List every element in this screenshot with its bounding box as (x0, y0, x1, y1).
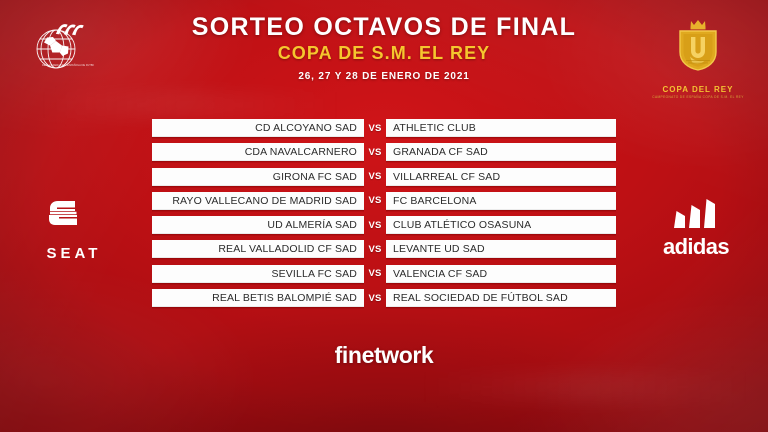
away-team: ATHLETIC CLUB (386, 119, 616, 137)
copa-del-rey-tagline: CAMPEONATO DE ESPAÑA COPA DE S.M. EL REY (650, 95, 746, 99)
away-team: FC BARCELONA (386, 192, 616, 210)
table-row: REAL BETIS BALOMPIÉ SAD VS REAL SOCIEDAD… (152, 289, 616, 307)
home-team: UD ALMERÍA SAD (152, 216, 364, 234)
vs-label: VS (364, 216, 386, 234)
home-team: REAL VALLADOLID CF SAD (152, 240, 364, 258)
table-row: UD ALMERÍA SAD VS CLUB ATLÉTICO OSASUNA (152, 216, 616, 234)
home-team: SEVILLA FC SAD (152, 265, 364, 283)
seat-logo: SEAT (30, 198, 114, 260)
home-team: RAYO VALLECANO DE MADRID SAD (152, 192, 364, 210)
competition-subtitle: COPA DE S.M. EL REY (0, 44, 768, 63)
away-team: LEVANTE UD SAD (386, 240, 616, 258)
away-team: REAL SOCIEDAD DE FÚTBOL SAD (386, 289, 616, 307)
vs-label: VS (364, 265, 386, 283)
table-row: CD ALCOYANO SAD VS ATHLETIC CLUB (152, 119, 616, 137)
away-team: CLUB ATLÉTICO OSASUNA (386, 216, 616, 234)
table-row: GIRONA FC SAD VS VILLARREAL CF SAD (152, 168, 616, 186)
sorteo-graphic: REAL FEDERACION ESPAÑOLA DE FUTBOL COPA … (0, 0, 768, 432)
table-row: RAYO VALLECANO DE MADRID SAD VS FC BARCE… (152, 192, 616, 210)
away-team: GRANADA CF SAD (386, 143, 616, 161)
vs-label: VS (364, 143, 386, 161)
table-row: CDA NAVALCARNERO VS GRANADA CF SAD (152, 143, 616, 161)
table-row: SEVILLA FC SAD VS VALENCIA CF SAD (152, 265, 616, 283)
table-row: REAL VALLADOLID CF SAD VS LEVANTE UD SAD (152, 240, 616, 258)
vs-label: VS (364, 168, 386, 186)
page-title: SORTEO OCTAVOS DE FINAL (0, 14, 768, 41)
vs-label: VS (364, 289, 386, 307)
home-team: CDA NAVALCARNERO (152, 143, 364, 161)
finetwork-logo: finetwork (0, 342, 768, 369)
vs-label: VS (364, 192, 386, 210)
match-list: CD ALCOYANO SAD VS ATHLETIC CLUB CDA NAV… (152, 119, 616, 313)
vs-label: VS (364, 240, 386, 258)
event-dates: 26, 27 Y 28 DE ENERO DE 2021 (0, 71, 768, 82)
away-team: VALENCIA CF SAD (386, 265, 616, 283)
home-team: GIRONA FC SAD (152, 168, 364, 186)
copa-del-rey-wordmark: COPA DEL REY (650, 85, 746, 94)
adidas-logo: adidas (650, 199, 742, 259)
away-team: VILLARREAL CF SAD (386, 168, 616, 186)
home-team: CD ALCOYANO SAD (152, 119, 364, 137)
vs-label: VS (364, 119, 386, 137)
adidas-wordmark: adidas (650, 234, 742, 260)
seat-wordmark: SEAT (30, 245, 114, 262)
home-team: REAL BETIS BALOMPIÉ SAD (152, 289, 364, 307)
header: SORTEO OCTAVOS DE FINAL COPA DE S.M. EL … (0, 14, 768, 82)
